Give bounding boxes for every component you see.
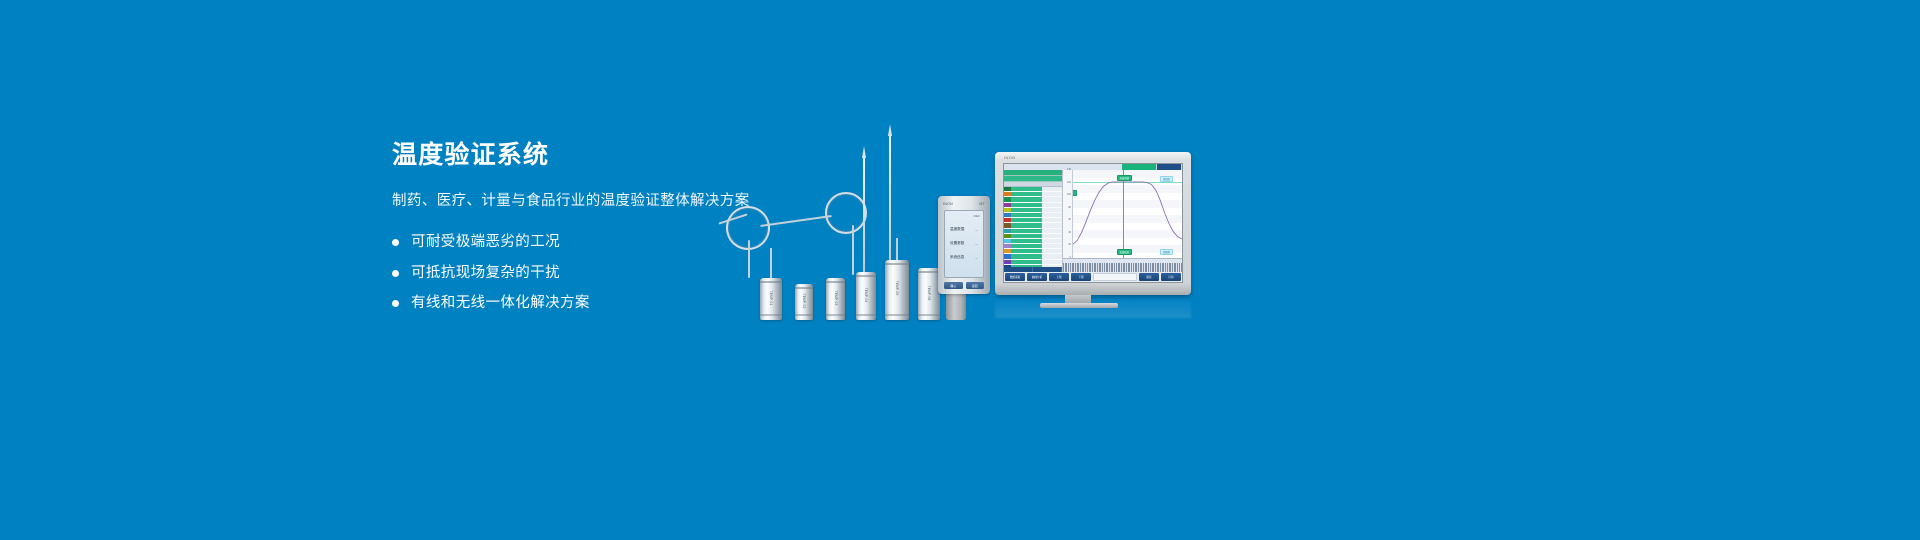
probe-wire [760,215,832,227]
channel-value [1042,223,1062,227]
handheld-menu-item[interactable]: 设置参数 → [948,241,980,246]
software-toolbar: 数据采集 曲线分析 上限 下限 报表 打印 [1004,272,1182,282]
probe-wire [748,240,750,278]
x-axis-tick [1106,263,1107,272]
x-axis-tick [1162,263,1163,272]
x-axis-tick [1145,263,1146,272]
channel-name [1011,239,1042,243]
software-body: 020406080100120140 灭菌开始 [1004,170,1182,272]
x-axis-tick [1089,263,1090,272]
channel-value [1042,197,1062,201]
bullet-dot-icon [392,300,399,307]
x-axis-tick [1114,263,1115,272]
channel-color-swatch [1004,244,1011,248]
handheld-reader[interactable]: INON MT REC 温度数据 → 设置参数 → 系统信息 → 确认 返回 [938,196,990,294]
channel-color-swatch [1004,229,1011,233]
x-axis-tick [1146,263,1147,272]
x-axis-tick [1128,263,1129,272]
x-axis-tick [1133,263,1134,272]
x-axis-tick [1070,263,1071,272]
channel-color-swatch [1004,197,1011,201]
data-logger: TEMP-06 [918,268,940,320]
chart-canvas[interactable]: 灭菌开始 灭菌结束 保温区 保温区 [1073,170,1182,258]
channel-name [1011,187,1042,191]
handheld-menu-label: 设置参数 [950,241,964,246]
x-axis-tick [1090,263,1091,272]
x-axis-tick [1163,263,1164,272]
toolbar-button-acquire[interactable]: 数据采集 [1005,273,1025,281]
channel-value [1042,244,1062,248]
x-axis-tick [1152,263,1153,272]
data-logger: TEMP-01 [760,278,782,320]
channel-name [1011,249,1042,253]
feature-label: 可耐受极端恶劣的工况 [411,233,560,252]
channel-name [1011,213,1042,217]
x-axis-tick [1107,263,1108,272]
handheld-keypad: 确认 返回 [944,282,984,289]
channel-name [1011,229,1042,233]
x-axis-tick [1131,263,1132,272]
channel-color-swatch [1004,260,1011,264]
handheld-model: MT [979,202,985,206]
y-axis-tick: 60 [1068,218,1071,221]
x-axis-tick [1135,263,1136,272]
x-axis-tick [1102,263,1103,272]
chevron-right-icon: → [974,256,978,260]
x-axis-tick [1165,263,1166,272]
x-axis-tick [1158,263,1159,272]
channel-name [1011,234,1042,238]
channel-color-swatch [1004,187,1011,191]
monitor-stand-base [1040,303,1118,308]
logger-label: TEMP-01 [769,291,773,306]
channel-color-swatch [1004,208,1011,212]
x-axis-tick [1179,263,1180,272]
chart-plot-area: 020406080100120140 灭菌开始 [1063,170,1182,258]
x-axis-tick [1072,263,1073,272]
x-axis-tick [1148,263,1149,272]
monitor-brand: INON [1004,155,1016,160]
probe-wire [852,225,854,275]
x-axis-tick [1082,263,1083,272]
channel-value [1042,234,1062,238]
y-axis-tick: 20 [1068,243,1071,246]
x-axis-tick [1116,263,1117,272]
data-logger: TEMP-03 [826,278,845,320]
x-axis-tick [1150,263,1151,272]
toolbar-button-analyze[interactable]: 曲线分析 [1027,273,1047,281]
x-axis-tick [1174,263,1175,272]
handheld-menu-label: 系统信息 [950,255,964,260]
x-axis-tick [1143,263,1144,272]
channel-name [1011,260,1042,264]
handheld-back-button[interactable]: 返回 [966,282,985,289]
y-axis-tick: 120 [1067,181,1071,184]
x-axis-tick [1109,263,1110,272]
x-axis-tick [1153,263,1154,272]
handheld-brand: INON [943,202,953,206]
handheld-menu-item[interactable]: 温度数据 → [948,227,980,232]
channel-table [1004,170,1063,272]
temperature-chart: 020406080100120140 灭菌开始 [1063,170,1182,272]
x-axis-tick [1141,263,1142,272]
x-axis-tick [1085,263,1086,272]
needle-probe [863,156,865,286]
channel-value [1042,187,1062,191]
logger-label: TEMP-06 [927,286,931,301]
channel-color-swatch [1004,234,1011,238]
bullet-dot-icon [392,270,399,277]
handheld-status: REC [948,214,980,218]
channel-color-swatch [1004,218,1011,222]
logger-label: TEMP-03 [834,291,838,306]
y-axis-tick: 80 [1068,206,1071,209]
hero-banner: 温度验证系统 制药、医疗、计量与食品行业的温度验证整体解决方案 可耐受极端恶劣的… [0,0,1920,540]
x-axis-tick [1129,263,1130,272]
chart-y-axis: 020406080100120140 [1063,170,1073,258]
x-axis-tick [1138,263,1139,272]
x-axis-tick [1121,263,1122,272]
toolbar-button-print[interactable]: 打印 [1161,273,1181,281]
y-axis-tick: 40 [1068,231,1071,234]
monitor-display: INON [995,152,1191,295]
channel-name [1011,192,1042,196]
temperature-curve [1073,170,1182,258]
chevron-right-icon: → [974,242,978,246]
channel-row-list[interactable] [1004,187,1062,267]
channel-color-swatch [1004,249,1011,253]
probe-coil-icon [825,192,867,234]
x-axis-tick [1119,263,1120,272]
channel-name [1011,218,1042,222]
channel-name [1011,208,1042,212]
y-axis-tick: 100 [1067,193,1071,196]
y-axis-tick: 140 [1067,168,1071,171]
channel-value [1042,249,1062,253]
x-axis-tick [1111,263,1112,272]
feature-label: 有线和无线一体化解决方案 [411,294,590,313]
x-axis-tick [1172,263,1173,272]
x-axis-tick [1094,263,1095,272]
x-axis-tick [1078,263,1079,272]
handheld-brand-row: INON MT [943,202,985,206]
channel-color-swatch [1004,213,1011,217]
channel-value [1042,203,1062,207]
data-logger: TEMP-05 [885,260,909,320]
x-axis-tick [1104,263,1105,272]
channel-name [1011,254,1042,258]
channel-value [1042,192,1062,196]
x-axis-tick [1068,263,1069,272]
channel-color-swatch [1004,254,1011,258]
channel-value [1042,213,1062,217]
chart-x-axis [1063,258,1182,272]
handheld-menu-item[interactable]: 系统信息 → [948,255,980,260]
x-axis-tick [1097,263,1098,272]
channel-color-swatch [1004,239,1011,243]
toolbar-button-upper-limit[interactable]: 上限 [1049,273,1069,281]
x-axis-tick [1155,263,1156,272]
x-axis-tick [1066,263,1067,272]
handheld-menu-label: 温度数据 [950,227,964,232]
x-axis-tick [1123,263,1124,272]
channel-color-swatch [1004,203,1011,207]
channel-value [1042,260,1062,264]
logger-label: TEMP-05 [895,281,899,296]
x-axis-tick [1077,263,1078,272]
channel-value [1042,229,1062,233]
x-axis-tick [1177,263,1178,272]
handheld-screen: REC 温度数据 → 设置参数 → 系统信息 → [944,210,984,278]
x-axis-tick [1065,263,1066,272]
channel-value [1042,208,1062,212]
channel-name [1011,197,1042,201]
x-axis-tick [1167,263,1168,272]
x-axis-tick [1124,263,1125,272]
data-logger: TEMP-02 [795,284,813,320]
x-axis-tick [1175,263,1176,272]
channel-color-swatch [1004,192,1011,196]
data-logger: TEMP-04 [856,272,876,320]
toolbar-button-report[interactable]: 报表 [1139,273,1159,281]
x-axis-tick [1083,263,1084,272]
channel-name [1011,203,1042,207]
x-axis-tick [1075,263,1076,272]
y-axis-tick: 0 [1070,256,1071,259]
x-axis-tick [1063,263,1064,272]
logger-label: TEMP-02 [802,294,806,309]
bullet-dot-icon [392,239,399,246]
software-screen: 020406080100120140 灭菌开始 [1003,163,1183,283]
x-axis-tick [1112,263,1113,272]
x-axis-tick [1160,263,1161,272]
chevron-right-icon: → [974,228,978,232]
handheld-confirm-button[interactable]: 确认 [944,282,963,289]
channel-name [1011,223,1042,227]
x-axis-tick [1181,263,1182,272]
channel-value [1042,218,1062,222]
x-axis-tick [1170,263,1171,272]
x-axis-tick [1100,263,1101,272]
channel-name [1011,244,1042,248]
x-axis-tick [1099,263,1100,272]
toolbar-spacer [1093,273,1137,281]
feature-label: 可抵抗现场复杂的干扰 [411,264,560,283]
x-axis-tick [1126,263,1127,272]
channel-value [1042,254,1062,258]
channel-value [1042,239,1062,243]
channel-color-swatch [1004,223,1011,227]
x-axis-tick [1095,263,1096,272]
logger-label: TEMP-04 [864,288,868,303]
x-axis-tick [1157,263,1158,272]
x-axis-tick [1087,263,1088,272]
x-axis-tick [1073,263,1074,272]
x-axis-tick [1136,263,1137,272]
x-axis-tick [1169,263,1170,272]
x-axis-tick [1118,263,1119,272]
toolbar-button-lower-limit[interactable]: 下限 [1071,273,1091,281]
x-axis-tick [1140,263,1141,272]
x-axis-tick [1080,263,1081,272]
x-axis-tick [1092,263,1093,272]
